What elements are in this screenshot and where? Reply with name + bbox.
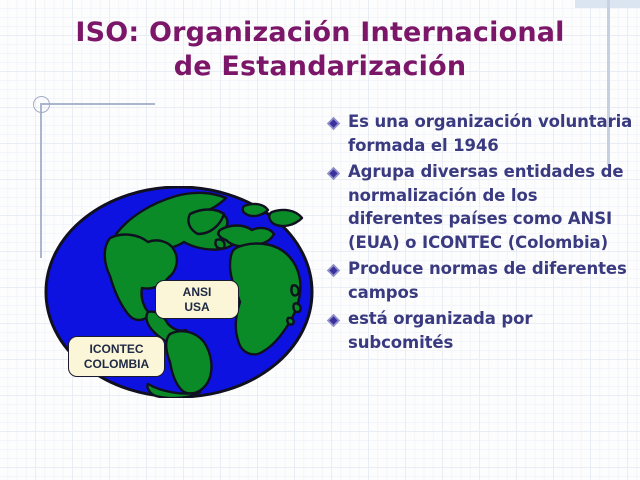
page-title-line-2: de Estandarización bbox=[20, 50, 620, 84]
page-title: ISO: Organización Internacional de Estan… bbox=[20, 16, 620, 84]
list-item-text: está organizada por subcomités bbox=[348, 307, 634, 354]
decorative-horizontal-line bbox=[41, 103, 155, 105]
ansi-usa-callout: ANSI USA bbox=[155, 280, 239, 319]
ansi-usa-callout-line-2: USA bbox=[184, 300, 209, 315]
list-item-text: Agrupa diversas entidades de normalizaci… bbox=[348, 160, 634, 254]
page-title-line-1: ISO: Organización Internacional bbox=[20, 16, 620, 50]
list-item: está organizada por subcomités bbox=[326, 307, 634, 354]
diamond-bullet-icon bbox=[326, 307, 348, 328]
icontec-colombia-callout-line-1: ICONTEC bbox=[90, 342, 144, 357]
list-item: Produce normas de diferentes campos bbox=[326, 257, 634, 304]
decorative-circle-icon bbox=[33, 96, 50, 113]
list-item-text: Es una organización voluntaria formada e… bbox=[348, 110, 634, 157]
icontec-colombia-callout: ICONTEC COLOMBIA bbox=[68, 336, 165, 377]
ansi-usa-callout-line-1: ANSI bbox=[183, 285, 212, 300]
list-item: Es una organización voluntaria formada e… bbox=[326, 110, 634, 157]
bullet-list: Es una organización voluntaria formada e… bbox=[326, 110, 634, 357]
diamond-bullet-icon bbox=[326, 110, 348, 131]
diamond-bullet-icon bbox=[326, 257, 348, 278]
icontec-colombia-callout-line-2: COLOMBIA bbox=[84, 357, 149, 372]
decorative-vertical-line bbox=[40, 103, 42, 258]
presentation-slide: ISO: Organización Internacional de Estan… bbox=[0, 0, 640, 480]
diamond-bullet-icon bbox=[326, 160, 348, 181]
list-item-text: Produce normas de diferentes campos bbox=[348, 257, 634, 304]
list-item: Agrupa diversas entidades de normalizaci… bbox=[326, 160, 634, 254]
